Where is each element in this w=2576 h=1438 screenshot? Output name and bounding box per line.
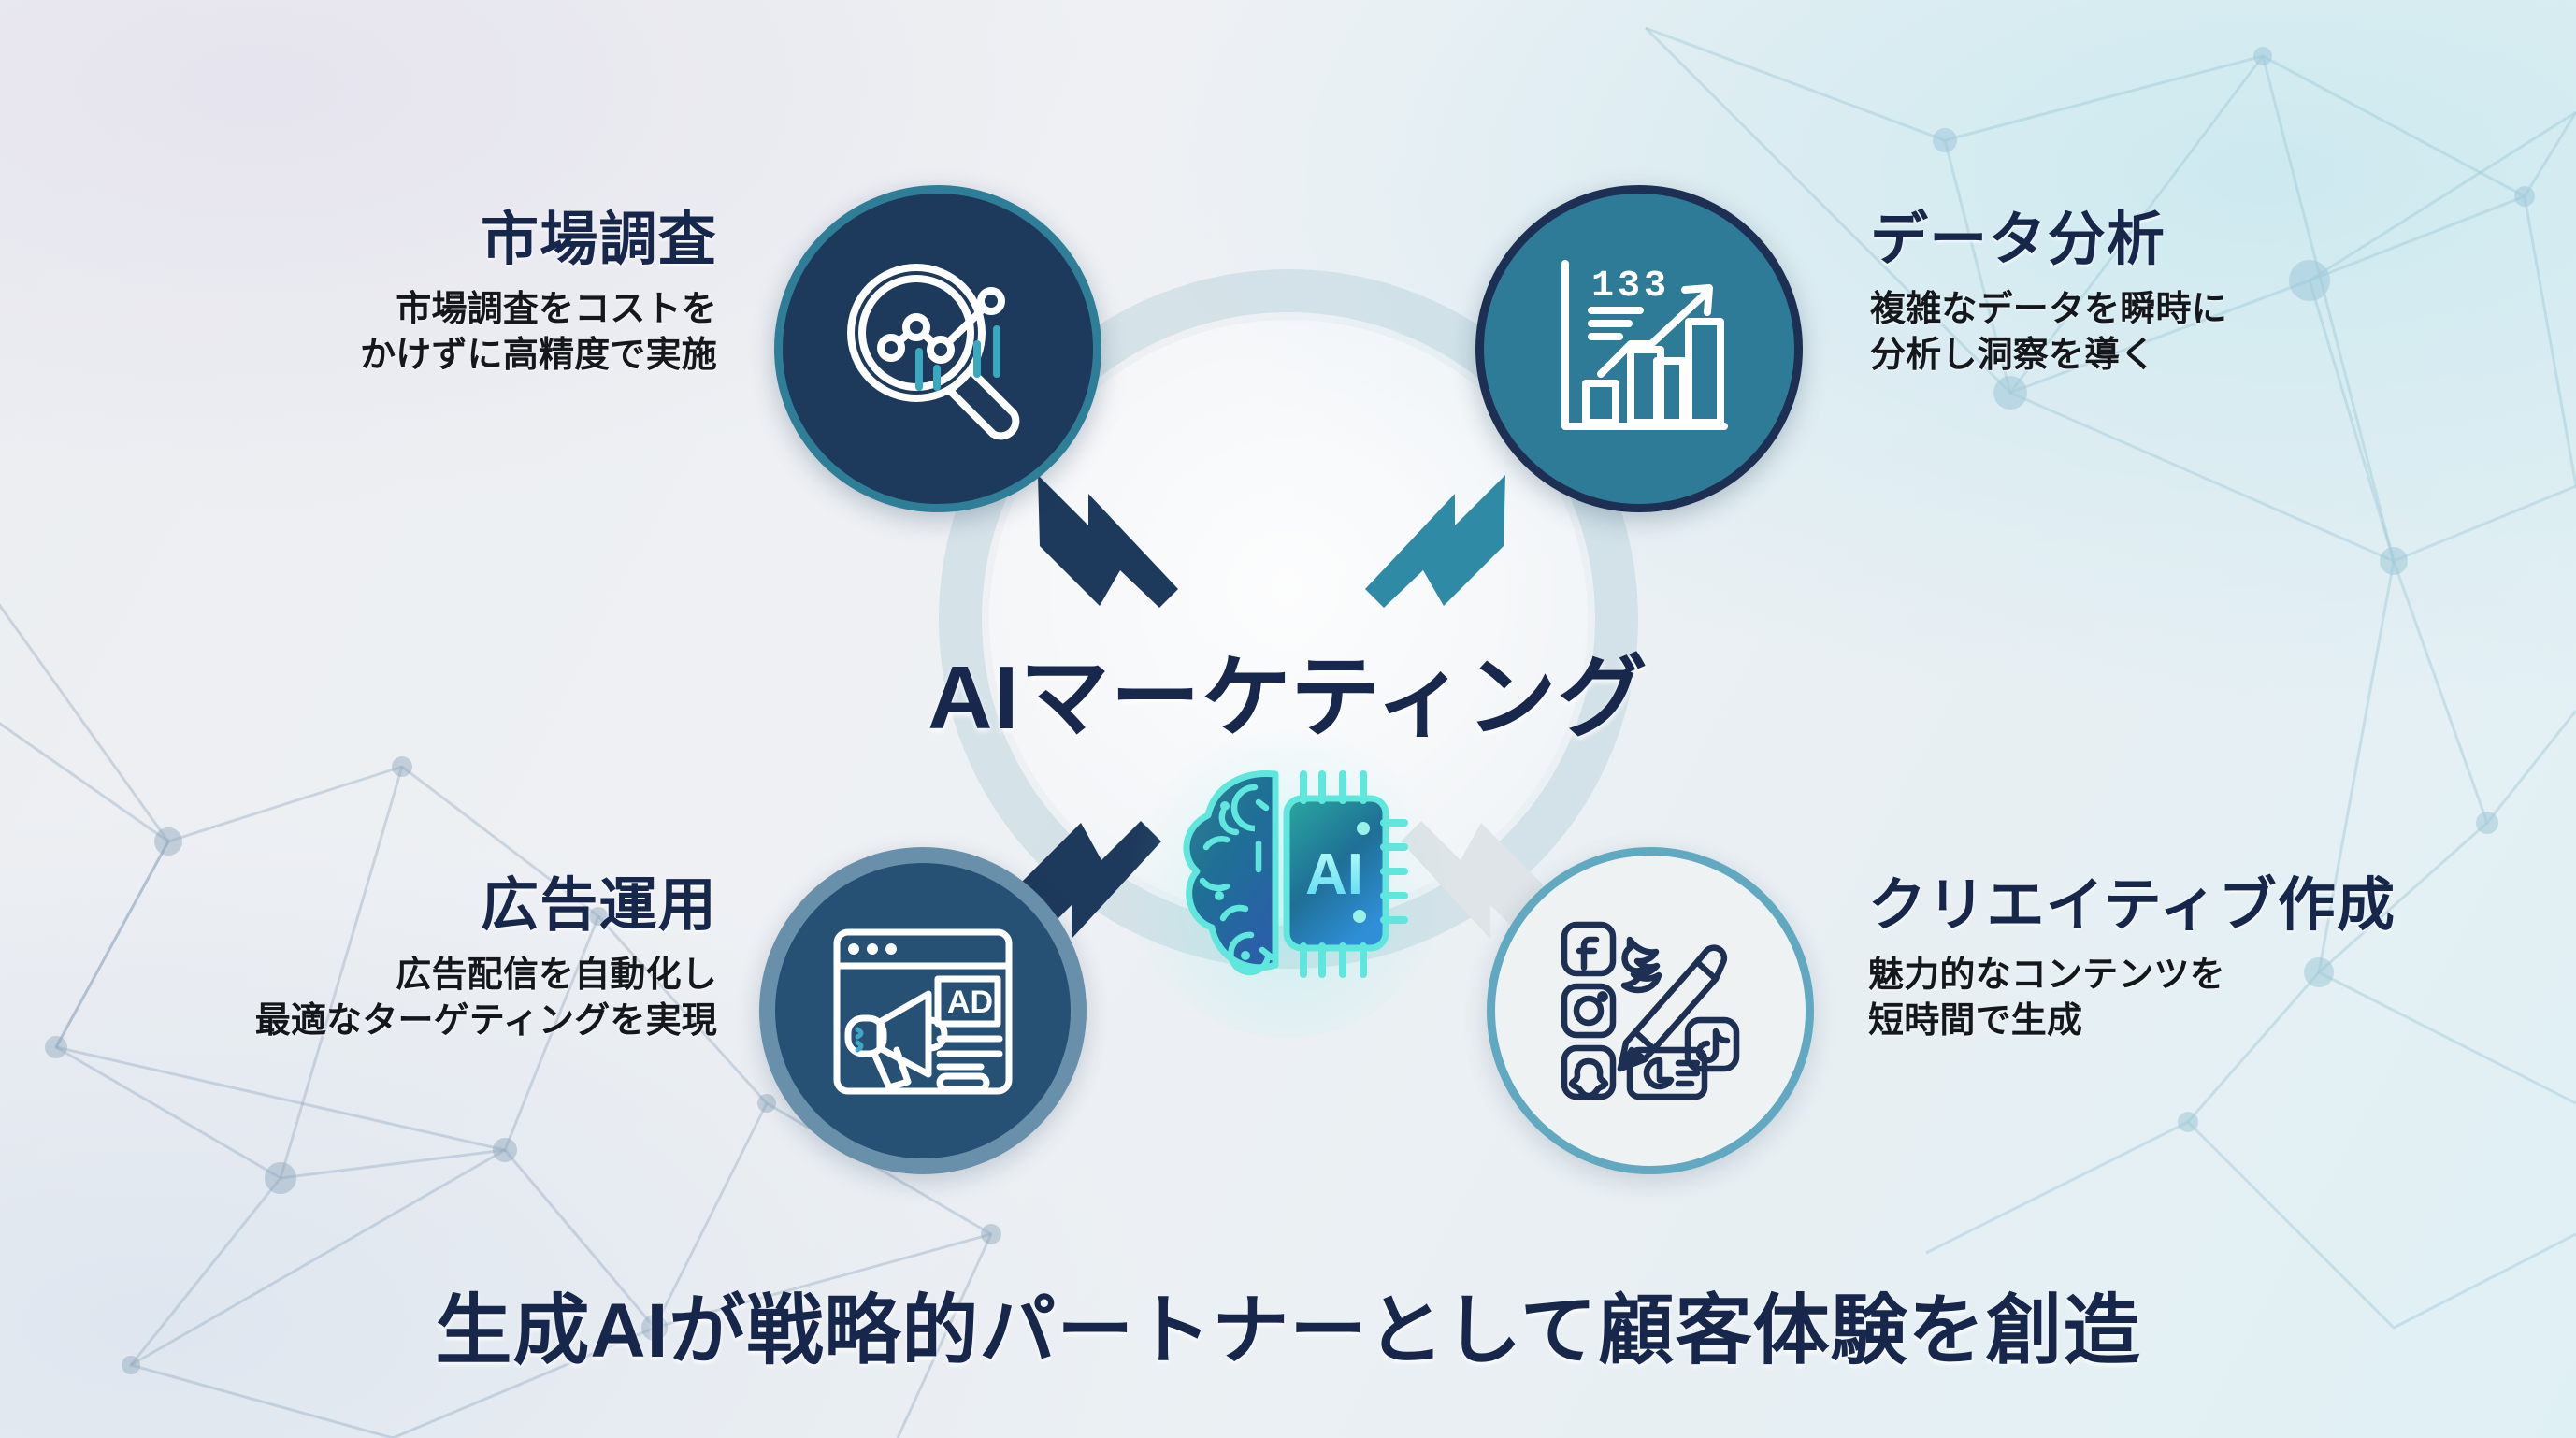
bar-chart-growth-icon: 133 [1532, 241, 1747, 456]
node-ad-operations[interactable]: AD [759, 847, 1087, 1174]
label-market-research-description: 市場調査をコストを かけずに高精度で実施 [360, 287, 717, 380]
node-creative-production[interactable] [1487, 847, 1814, 1174]
label-ad-operations-title: 広告運用 [255, 875, 717, 938]
snapchat-icon [1564, 1048, 1613, 1097]
label-data-analysis: データ分析 複雑なデータを瞬時に 分析し洞察を導く [1870, 209, 2227, 380]
infographic-canvas: 133 [0, 0, 2576, 1438]
label-market-research-title: 市場調査 [360, 209, 717, 272]
twitter-icon [1624, 940, 1659, 990]
center-title: AIマーケティング [0, 625, 2576, 755]
node-data-analysis[interactable]: 133 [1475, 185, 1803, 512]
ai-core-label: AI [1305, 842, 1363, 907]
social-media-pen-icon [1547, 908, 1753, 1114]
label-creative-production-title: クリエイティブ作成 [1868, 875, 2396, 938]
label-data-analysis-title: データ分析 [1870, 209, 2227, 272]
label-data-analysis-description: 複雑なデータを瞬時に 分析し洞察を導く [1870, 287, 2227, 380]
ad-badge-label: AD [947, 985, 993, 1020]
label-ad-operations: 広告運用 広告配信を自動化し 最適なターゲティングを実現 [255, 875, 717, 1045]
label-market-research: 市場調査 市場調査をコストを かけずに高精度で実施 [360, 209, 717, 380]
chart-digits-label: 133 [1591, 266, 1670, 308]
footer-tagline: 生成AIが戦略的パートナーとして顧客体験を創造 [0, 1268, 2576, 1379]
ai-brain-chip-icon: AI [1165, 757, 1408, 991]
label-creative-production: クリエイティブ作成 魅力的なコンテンツを 短時間で生成 [1868, 875, 2396, 1045]
node-market-research[interactable] [774, 185, 1101, 512]
megaphone-browser-ad-icon: AD [820, 908, 1026, 1114]
magnifier-chart-icon [830, 241, 1045, 456]
label-creative-production-description: 魅力的なコンテンツを 短時間で生成 [1868, 953, 2396, 1045]
label-ad-operations-description: 広告配信を自動化し 最適なターゲティングを実現 [255, 953, 717, 1045]
